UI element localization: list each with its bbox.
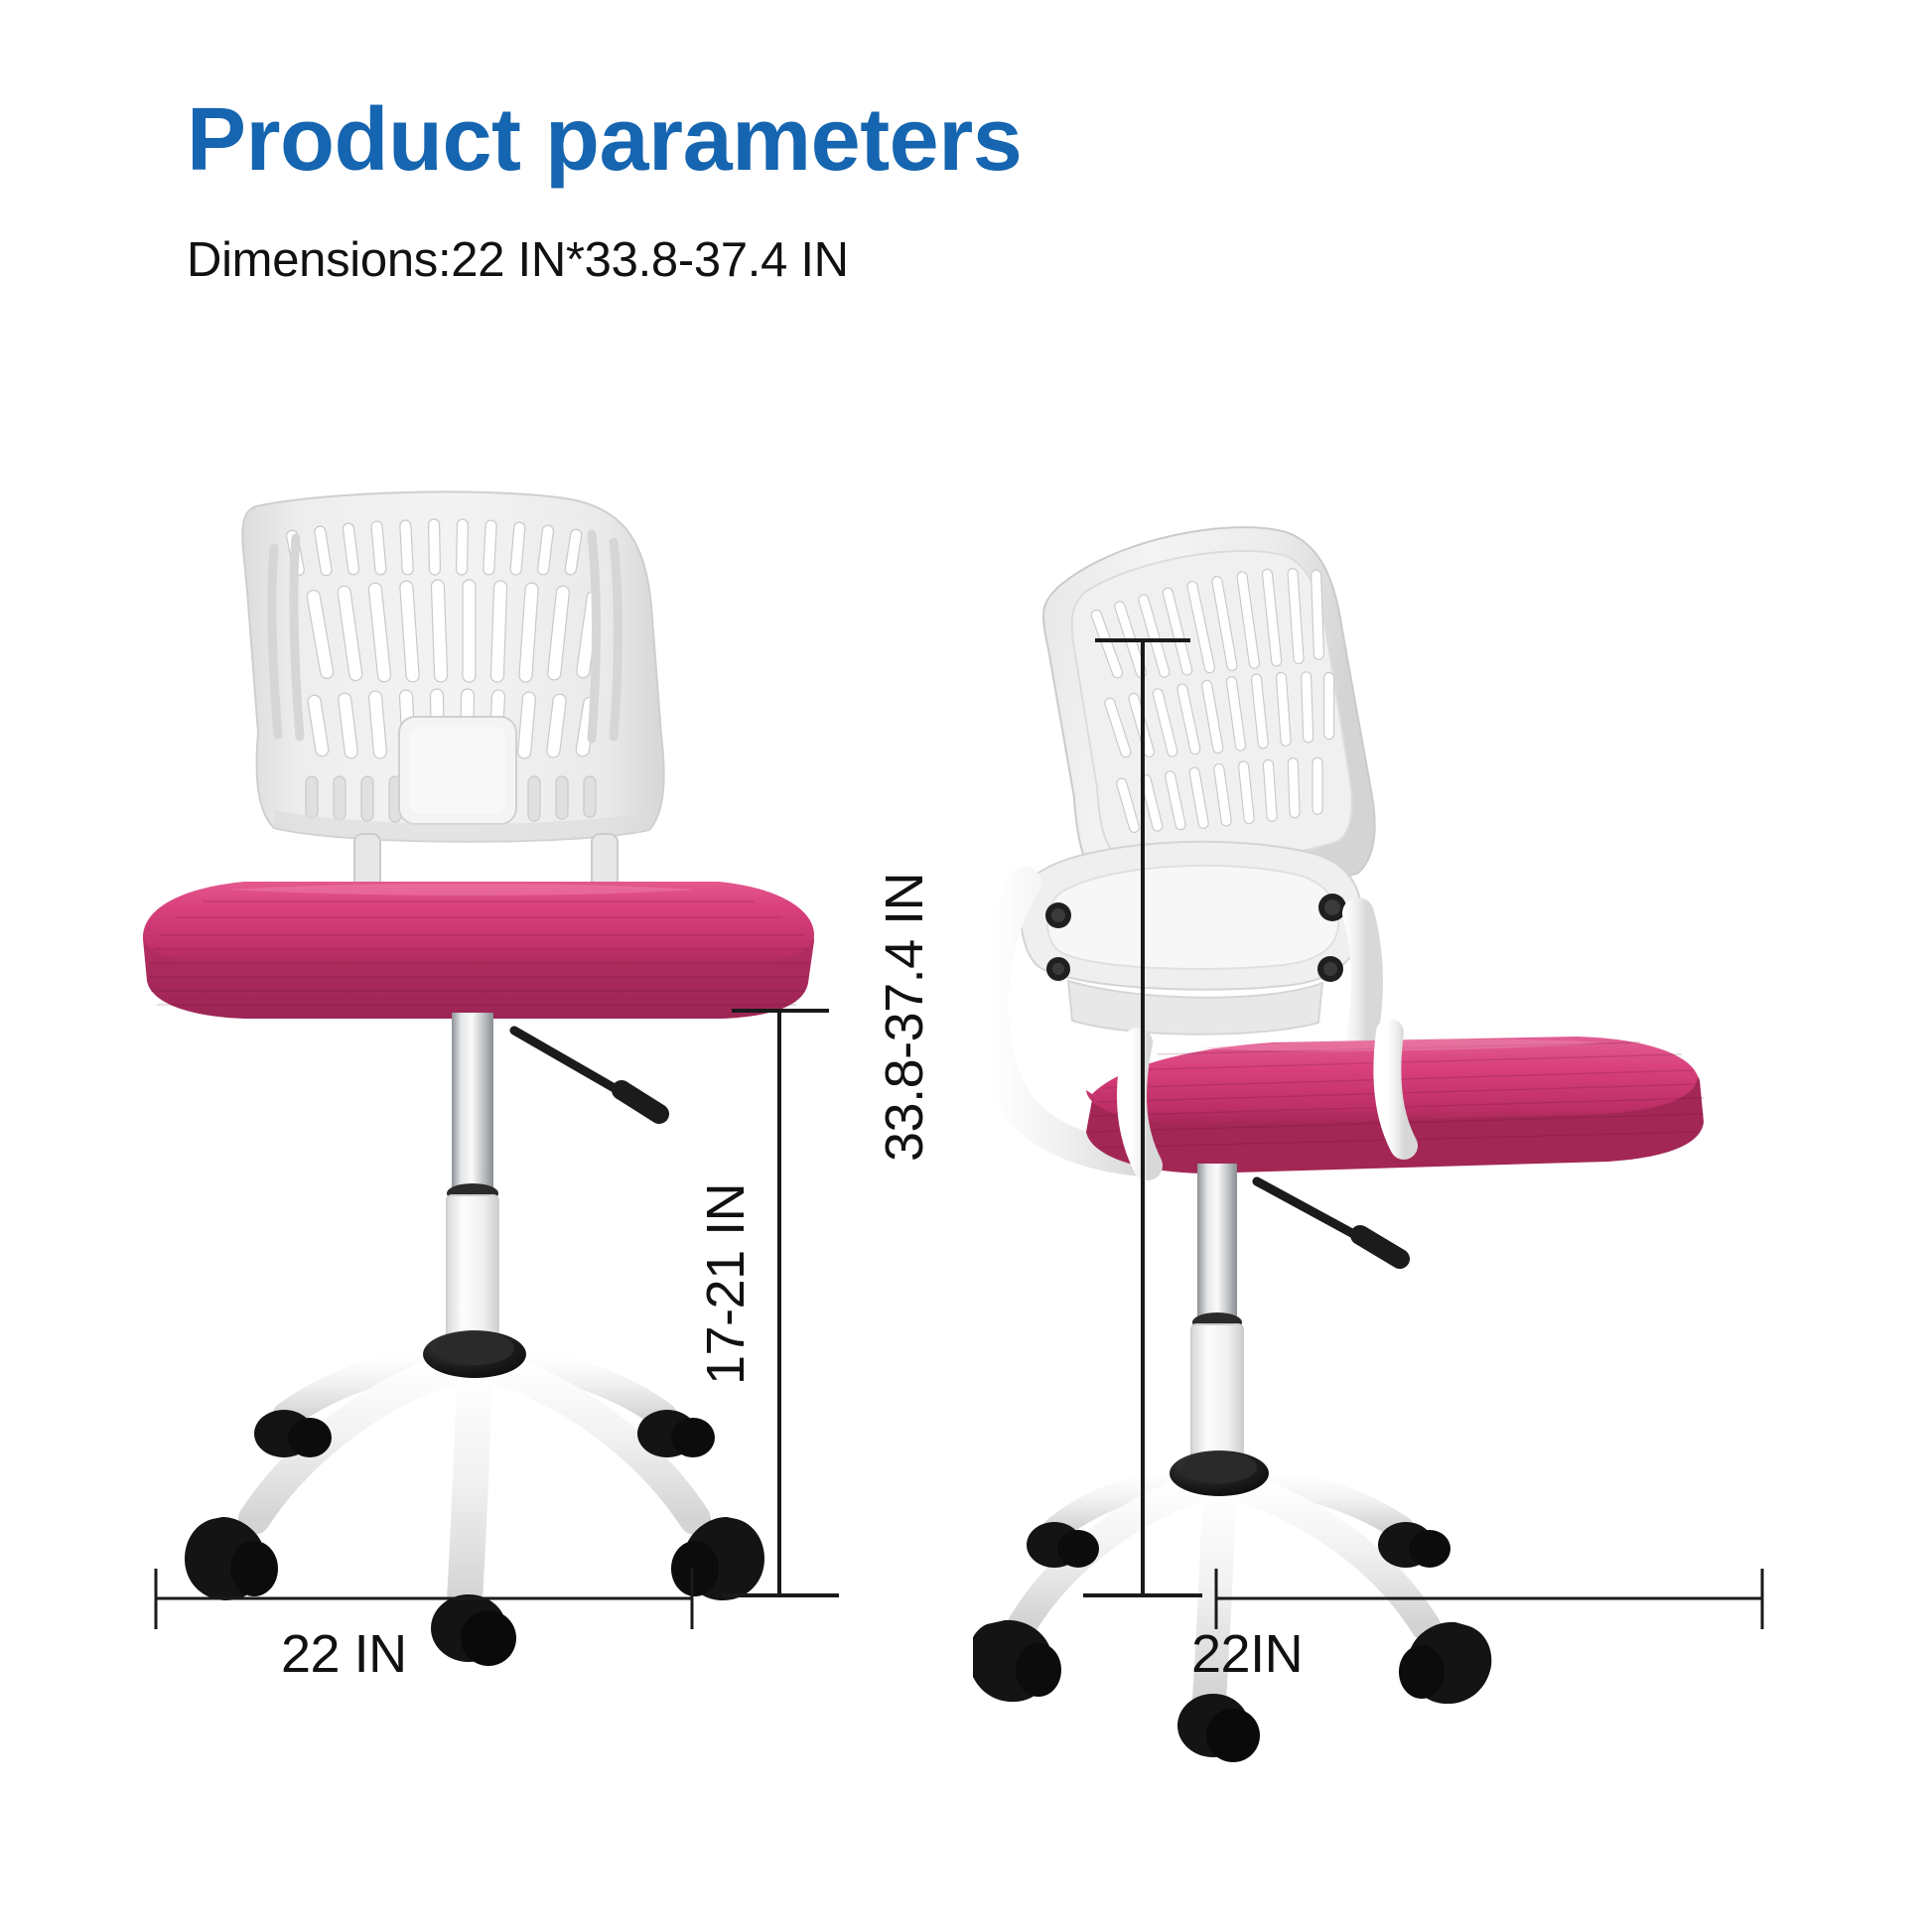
- product-parameters-page: Product parameters Dimensions:22 IN*33.8…: [0, 0, 1932, 1932]
- dimension-label-seat-height: 17-21 IN: [695, 1183, 757, 1385]
- dimension-label-width-left: 22 IN: [281, 1623, 407, 1685]
- dimension-label-total-height: 33.8-37.4 IN: [874, 873, 935, 1162]
- dimension-line-total-height: [1083, 640, 1202, 1595]
- dimension-line-width-right: [1216, 1569, 1762, 1629]
- dimension-label-width-right: 22IN: [1191, 1623, 1303, 1685]
- dimension-line-width-left: [156, 1569, 692, 1629]
